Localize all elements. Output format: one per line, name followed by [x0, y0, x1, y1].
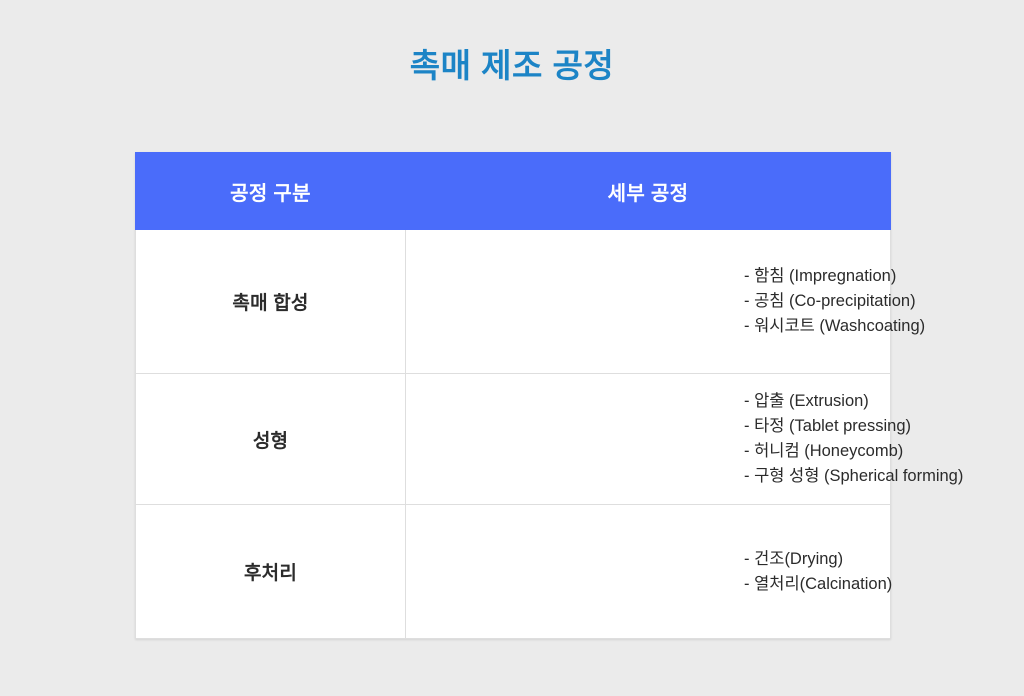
cell-category-synthesis: 촉매 합성 — [136, 230, 406, 374]
cell-detail-synthesis: - 함침 (Impregnation) - 공침 (Co-precipitati… — [406, 230, 891, 374]
cell-detail-forming: - 압출 (Extrusion) - 타정 (Tablet pressing) … — [406, 374, 891, 505]
table-header: 공정 구분 세부 공정 — [136, 153, 891, 230]
cell-detail-posttreatment: - 건조(Drying) - 열처리(Calcination) — [406, 505, 891, 639]
list-item: - 허니컴 (Honeycomb) — [744, 439, 890, 464]
list-item: - 열처리(Calcination) — [744, 572, 890, 597]
list-item: - 압출 (Extrusion) — [744, 389, 890, 414]
list-item: - 공침 (Co-precipitation) — [744, 289, 890, 314]
list-item: - 구형 성형 (Spherical forming) — [744, 464, 890, 489]
list-item: - 워시코트 (Washcoating) — [744, 314, 890, 339]
process-table: 공정 구분 세부 공정 촉매 합성 - 함침 (Impregnation) - … — [135, 152, 891, 639]
table-header-row: 공정 구분 세부 공정 — [136, 153, 891, 230]
detail-list-forming: - 압출 (Extrusion) - 타정 (Tablet pressing) … — [406, 389, 890, 489]
column-header-detail: 세부 공정 — [406, 153, 891, 230]
table-row: 촉매 합성 - 함침 (Impregnation) - 공침 (Co-preci… — [136, 230, 891, 374]
table-row: 후처리 - 건조(Drying) - 열처리(Calcination) — [136, 505, 891, 639]
list-item: - 타정 (Tablet pressing) — [744, 414, 890, 439]
list-item: - 함침 (Impregnation) — [744, 264, 890, 289]
page-title: 촉매 제조 공정 — [0, 46, 1024, 86]
cell-category-forming: 성형 — [136, 374, 406, 505]
table-row: 성형 - 압출 (Extrusion) - 타정 (Tablet pressin… — [136, 374, 891, 505]
detail-list-synthesis: - 함침 (Impregnation) - 공침 (Co-precipitati… — [406, 264, 890, 339]
detail-list-posttreatment: - 건조(Drying) - 열처리(Calcination) — [406, 547, 890, 597]
table-body: 촉매 합성 - 함침 (Impregnation) - 공침 (Co-preci… — [136, 230, 891, 639]
slide-root: 촉매 제조 공정 공정 구분 세부 공정 촉매 합성 - 함침 (Impregn… — [0, 0, 1024, 696]
list-item: - 건조(Drying) — [744, 547, 890, 572]
cell-category-posttreatment: 후처리 — [136, 505, 406, 639]
column-header-category: 공정 구분 — [136, 153, 406, 230]
